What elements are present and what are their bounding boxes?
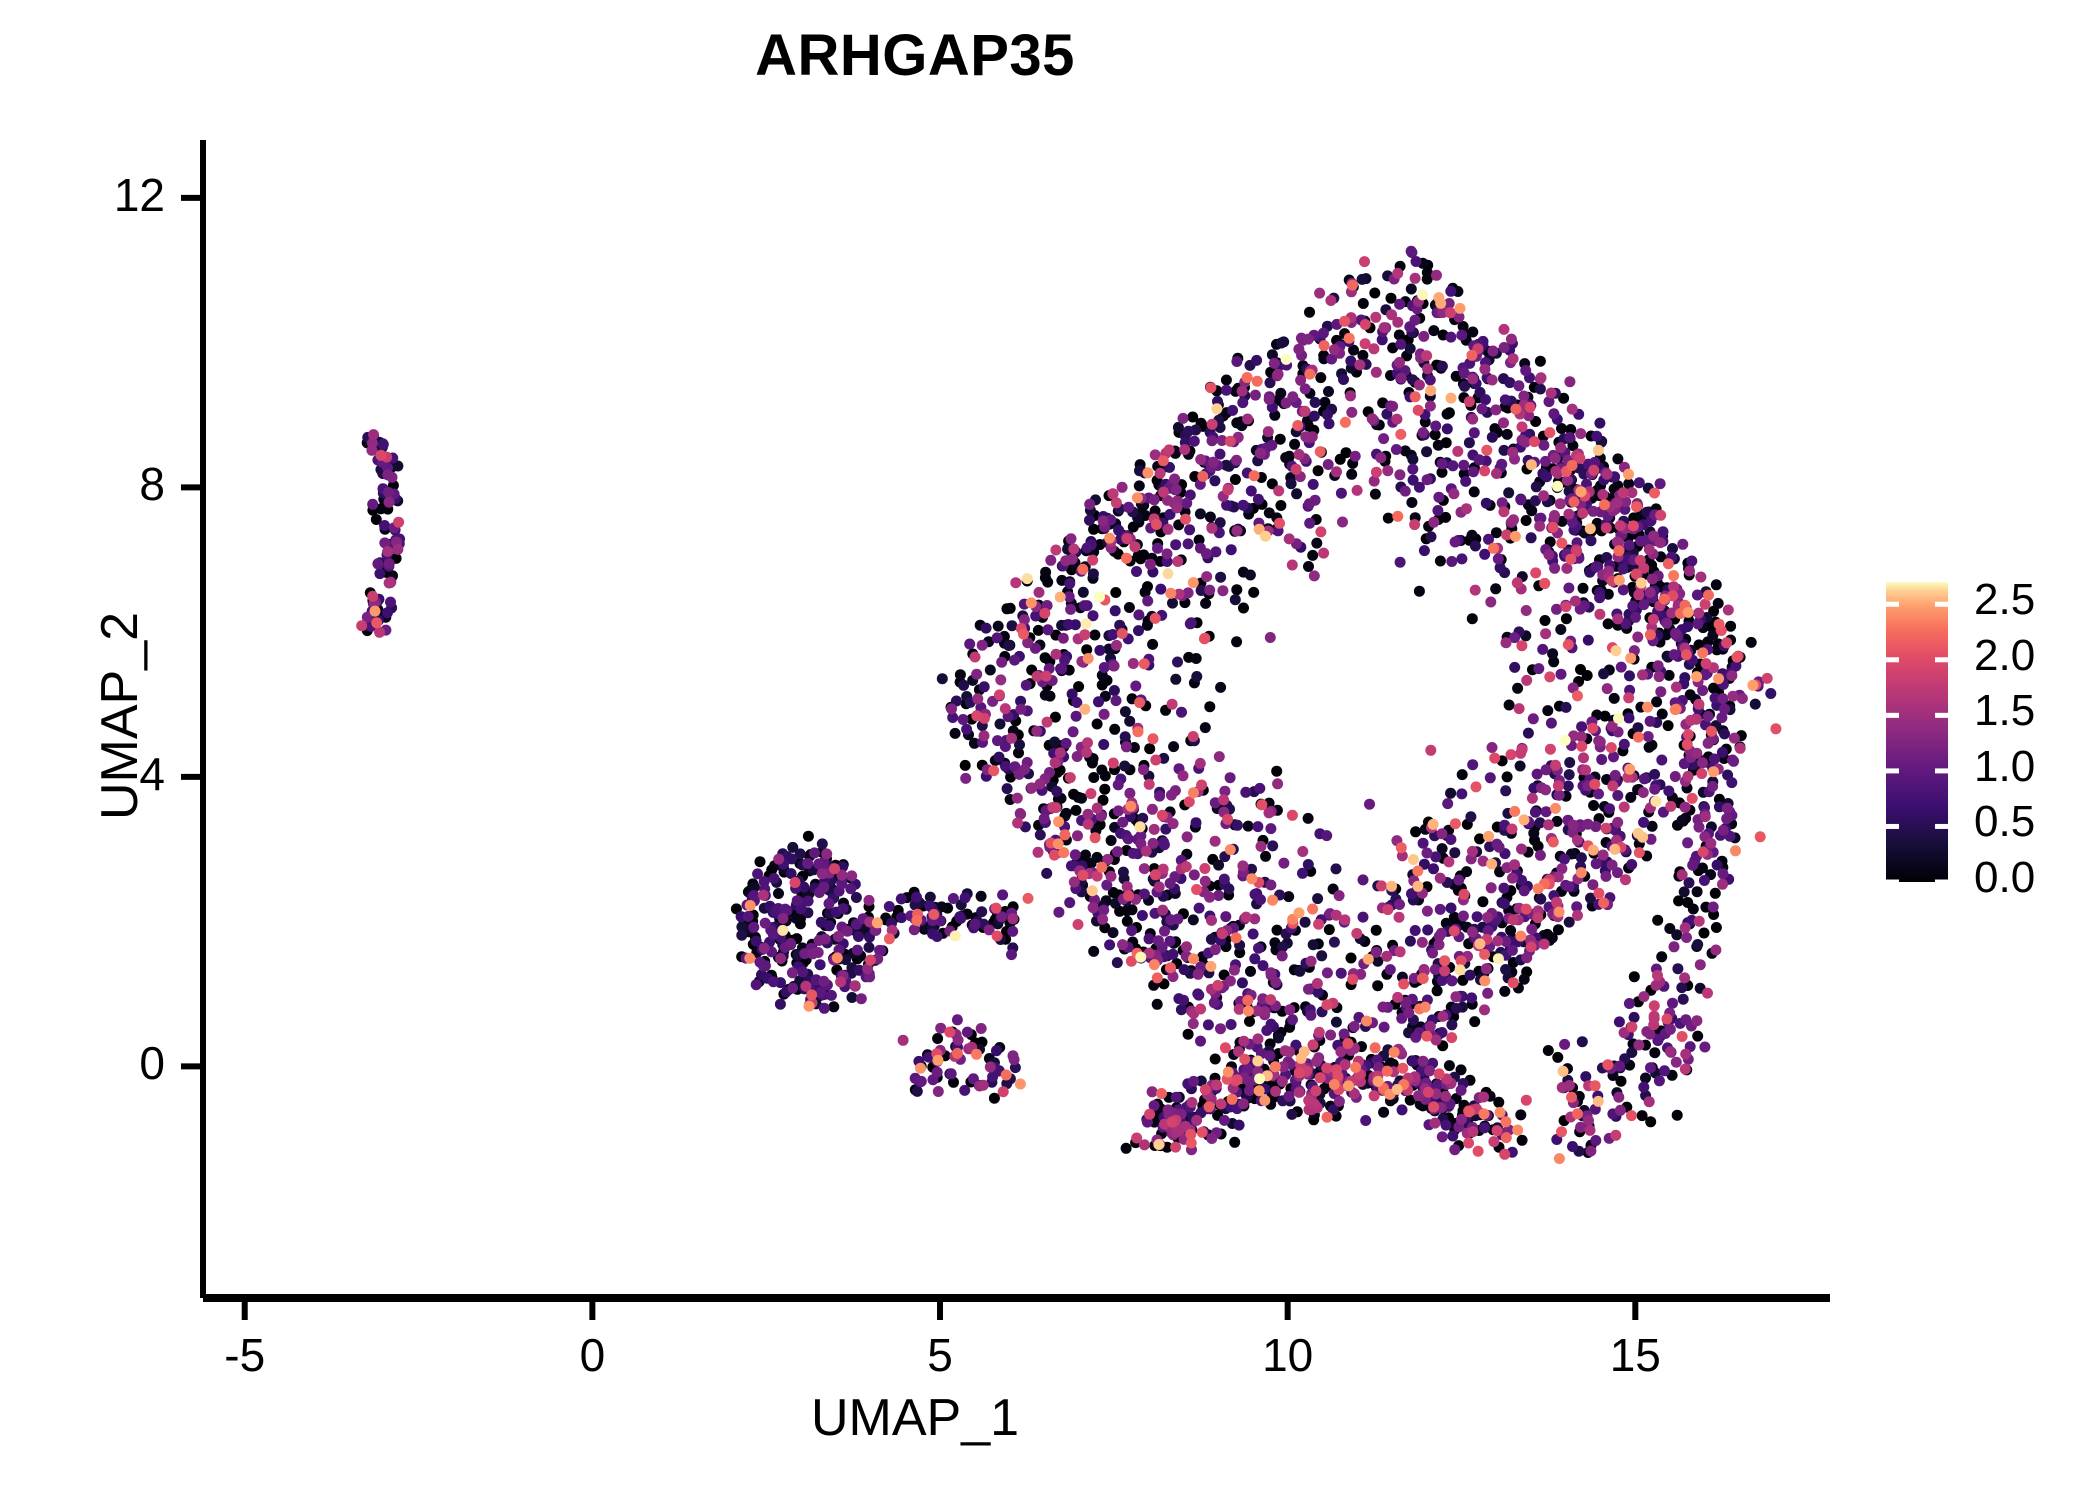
y-tick-label: 0 <box>5 1036 165 1090</box>
colorbar-tick-label: 1.5 <box>1974 686 2035 736</box>
x-tick-label: -5 <box>165 1328 325 1382</box>
umap-feature-plot: ARHGAP35 UMAP_1 UMAP_2 -5051015 04812 2.… <box>0 0 2100 1500</box>
colorbar-tick-label: 2.5 <box>1974 575 2035 625</box>
scatter-plot-canvas <box>0 0 2100 1500</box>
x-tick-label: 5 <box>860 1328 1020 1382</box>
colorbar-tick-label: 1.0 <box>1974 742 2035 792</box>
colorbar-layer <box>1886 582 1948 882</box>
y-tick-label: 8 <box>5 457 165 511</box>
colorbar-tick-label: 0.5 <box>1974 797 2035 847</box>
scatter-points-layer <box>356 246 1781 1164</box>
y-tick-label: 12 <box>5 168 165 222</box>
x-tick-label: 15 <box>1555 1328 1715 1382</box>
colorbar-tick-label: 0.0 <box>1974 853 2035 903</box>
y-tick-label: 4 <box>5 747 165 801</box>
y-axis-title: UMAP_2 <box>90 316 150 1116</box>
x-tick-label: 10 <box>1208 1328 1368 1382</box>
colorbar-tick-label: 2.0 <box>1974 631 2035 681</box>
x-tick-label: 0 <box>512 1328 672 1382</box>
x-axis-title: UMAP_1 <box>0 1388 1830 1448</box>
